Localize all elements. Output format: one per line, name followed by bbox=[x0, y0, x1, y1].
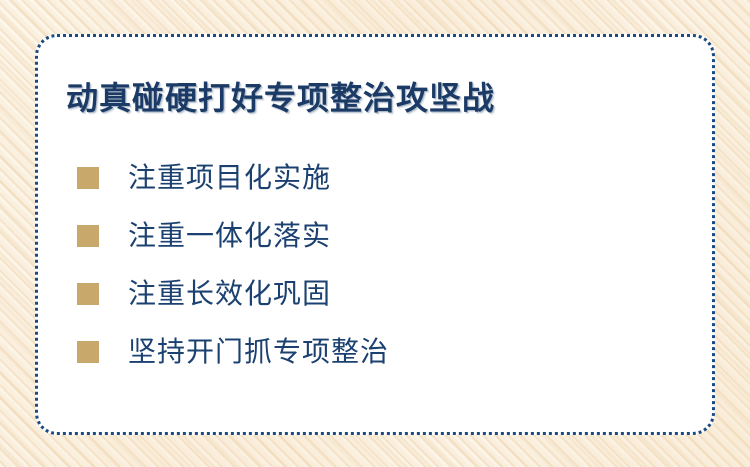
square-bullet-icon bbox=[77, 341, 99, 363]
list-item[interactable]: 注重项目化实施 bbox=[77, 149, 677, 207]
square-bullet-icon bbox=[77, 167, 99, 189]
square-bullet-icon bbox=[77, 225, 99, 247]
list-item-label: 注重项目化实施 bbox=[128, 162, 331, 194]
content-card: 动真碰硬打好专项整治攻坚战 注重项目化实施 注重一体化落实 注重长效化巩固 坚持… bbox=[35, 34, 715, 435]
slide-title: 动真碰硬打好专项整治攻坚战 bbox=[66, 79, 495, 117]
list-item-label: 注重长效化巩固 bbox=[128, 278, 331, 310]
square-bullet-icon bbox=[77, 283, 99, 305]
list-item[interactable]: 坚持开门抓专项整治 bbox=[77, 323, 677, 381]
list-item-label: 坚持开门抓专项整治 bbox=[128, 336, 389, 368]
list-item-label: 注重一体化落实 bbox=[128, 220, 331, 252]
list-item[interactable]: 注重一体化落实 bbox=[77, 207, 677, 265]
list-item[interactable]: 注重长效化巩固 bbox=[77, 265, 677, 323]
bullet-list: 注重项目化实施 注重一体化落实 注重长效化巩固 坚持开门抓专项整治 bbox=[77, 149, 677, 381]
slide-canvas: 动真碰硬打好专项整治攻坚战 注重项目化实施 注重一体化落实 注重长效化巩固 坚持… bbox=[0, 0, 750, 467]
